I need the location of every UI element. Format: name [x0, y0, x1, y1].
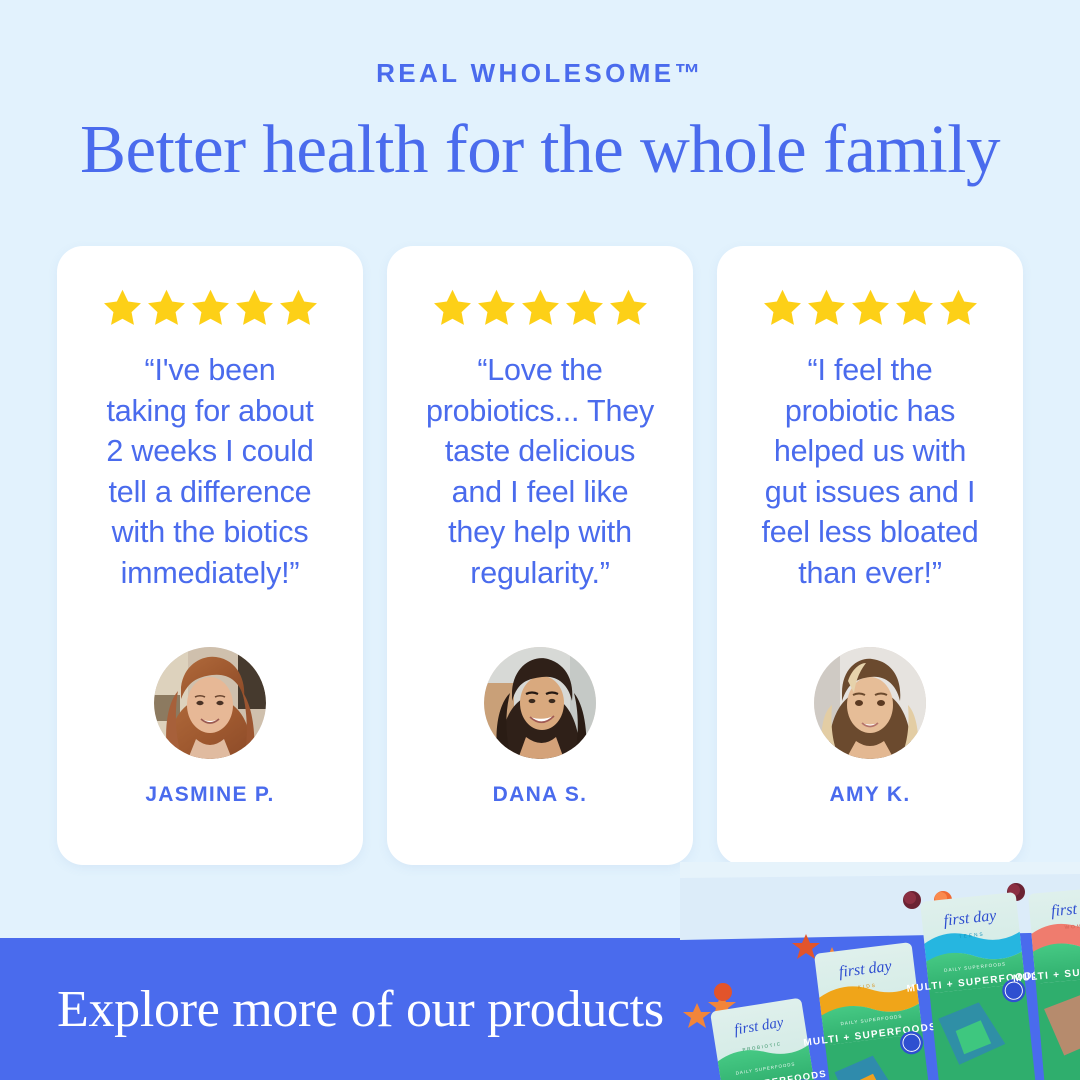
avatar	[154, 647, 266, 759]
avatar	[814, 647, 926, 759]
product-photo[interactable]: first day PROBIOTIC DAILY SUPERFOODS MUL…	[680, 862, 1080, 1080]
page-eyebrow: REAL WHOLESOME™	[0, 58, 1080, 89]
star-icon	[234, 287, 275, 328]
star-icon	[564, 287, 605, 328]
promo-page: REAL WHOLESOME™ Better health for the wh…	[0, 0, 1080, 1080]
testimonial-card[interactable]: “I've been taking for about 2 weeks I co…	[57, 246, 363, 865]
star-icon	[278, 287, 319, 328]
star-rating	[432, 286, 649, 328]
page-title: Better health for the whole family	[0, 112, 1080, 187]
star-icon	[762, 287, 803, 328]
reviewer: AMY K.	[717, 647, 1023, 807]
testimonial-card[interactable]: “I feel the probiotic has helped us with…	[717, 246, 1023, 865]
reviewer-name: AMY K.	[830, 783, 911, 807]
star-icon	[938, 287, 979, 328]
cta-banner-label: Explore more of our products	[57, 980, 664, 1039]
star-rating	[762, 286, 979, 328]
star-icon	[806, 287, 847, 328]
avatar-image	[814, 647, 926, 759]
testimonial-quote: “Love the probiotics... They taste delic…	[408, 350, 672, 593]
star-icon	[894, 287, 935, 328]
avatar-image	[154, 647, 266, 759]
testimonial-card[interactable]: “Love the probiotics... They taste delic…	[387, 246, 693, 865]
reviewer-name: JASMINE P.	[145, 783, 274, 807]
testimonial-card-list: “I've been taking for about 2 weeks I co…	[57, 246, 1023, 865]
star-rating	[102, 286, 319, 328]
reviewer: DANA S.	[387, 647, 693, 807]
testimonial-quote: “I've been taking for about 2 weeks I co…	[88, 350, 331, 593]
star-icon	[190, 287, 231, 328]
testimonial-quote: “I feel the probiotic has helped us with…	[743, 350, 996, 593]
star-icon	[476, 287, 517, 328]
product-photo-image: first day PROBIOTIC DAILY SUPERFOODS MUL…	[680, 862, 1080, 1080]
avatar	[484, 647, 596, 759]
star-icon	[102, 287, 143, 328]
reviewer: JASMINE P.	[57, 647, 363, 807]
star-icon	[432, 287, 473, 328]
star-icon	[608, 287, 649, 328]
star-icon	[850, 287, 891, 328]
star-icon	[146, 287, 187, 328]
avatar-image	[484, 647, 596, 759]
star-icon	[520, 287, 561, 328]
reviewer-name: DANA S.	[493, 783, 588, 807]
